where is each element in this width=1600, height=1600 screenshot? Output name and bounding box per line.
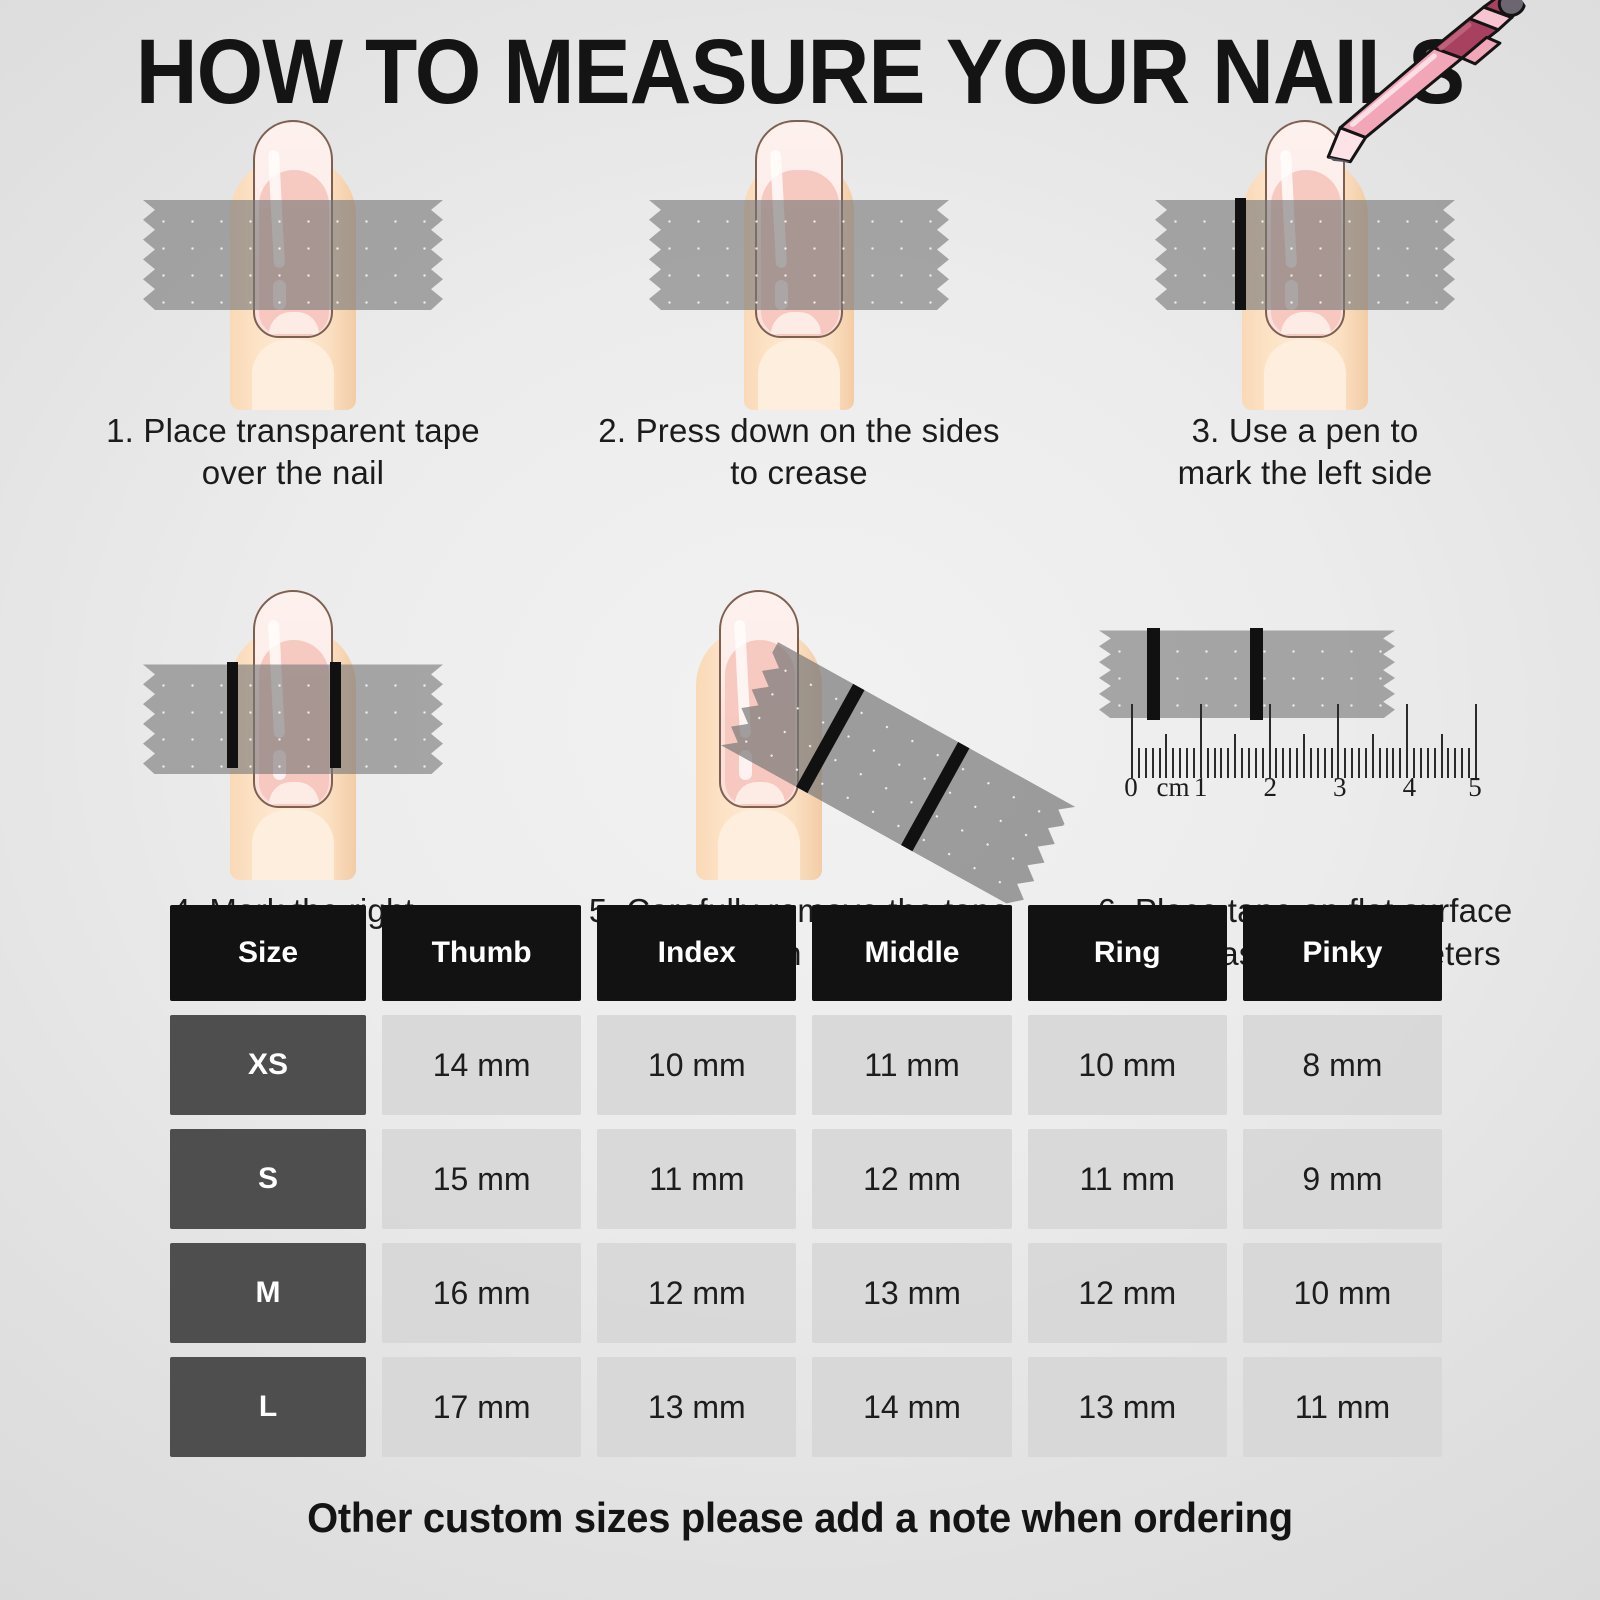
cell-l-thumb: 17 mm <box>382 1357 581 1457</box>
ruler-label-0: 0 <box>1124 772 1138 803</box>
table-header-index: Index <box>597 905 796 1001</box>
table-header-row: Size Thumb Index Middle Ring Pinky <box>170 905 1442 1001</box>
ruler-tick-mm <box>1289 748 1291 778</box>
steps-container: 1. Place transparent tape over the nail <box>40 120 1560 975</box>
ruler-tick-mm <box>1420 748 1422 778</box>
marked-tape <box>143 664 443 774</box>
ruler-tick-mm <box>1392 748 1394 778</box>
ruler-label-1: 1 <box>1194 772 1208 803</box>
ruler-label-2: 2 <box>1263 772 1277 803</box>
ruler-tick-cm <box>1337 704 1339 778</box>
step-1-illustration <box>40 120 546 410</box>
ruler-tick-mm <box>1152 748 1154 778</box>
ruler-tick-mm <box>1255 748 1257 778</box>
ruler-tick-mm <box>1234 734 1236 778</box>
table-header-ring: Ring <box>1028 905 1227 1001</box>
table-row: M 16 mm 12 mm 13 mm 12 mm 10 mm <box>170 1243 1442 1343</box>
cell-m-pinky: 10 mm <box>1243 1243 1442 1343</box>
cell-xs-pinky: 8 mm <box>1243 1015 1442 1115</box>
finger-knuckle <box>758 340 840 410</box>
size-label-s: S <box>170 1129 366 1229</box>
table-header-size: Size <box>170 905 366 1001</box>
infographic-page: HOW TO MEASURE YOUR NAILS <box>0 0 1600 1600</box>
steps-row-1: 1. Place transparent tape over the nail <box>40 120 1560 494</box>
cell-xs-ring: 10 mm <box>1028 1015 1227 1115</box>
cell-s-pinky: 9 mm <box>1243 1129 1442 1229</box>
cell-s-ring: 11 mm <box>1028 1129 1227 1229</box>
finger-knuckle <box>1264 340 1346 410</box>
step-1-caption-line1: 1. Place transparent tape <box>50 410 536 452</box>
footer-note: Other custom sizes please add a note whe… <box>40 1494 1560 1542</box>
finger-knuckle <box>252 340 334 410</box>
ruler-tick-mm <box>1386 748 1388 778</box>
cell-l-index: 13 mm <box>597 1357 796 1457</box>
ruler-tick-mm <box>1220 748 1222 778</box>
cell-m-middle: 13 mm <box>812 1243 1011 1343</box>
finger-knuckle <box>718 810 800 880</box>
step-1-caption: 1. Place transparent tape over the nail <box>40 410 546 494</box>
cell-s-index: 11 mm <box>597 1129 796 1229</box>
step-2-caption-line1: 2. Press down on the sides <box>556 410 1042 452</box>
step-2: 2. Press down on the sides to crease <box>546 120 1052 494</box>
transparent-tape <box>143 200 443 310</box>
ruler-tick-mm <box>1282 748 1284 778</box>
ruler-tick-mm <box>1317 748 1319 778</box>
ruler-tick-mm <box>1296 748 1298 778</box>
ruler-tick-mm <box>1358 748 1360 778</box>
cell-l-ring: 13 mm <box>1028 1357 1227 1457</box>
cell-m-ring: 12 mm <box>1028 1243 1227 1343</box>
ruler-tick-mm <box>1461 748 1463 778</box>
table-row: XS 14 mm 10 mm 11 mm 10 mm 8 mm <box>170 1015 1442 1115</box>
cell-m-thumb: 16 mm <box>382 1243 581 1343</box>
ruler-tick-mm <box>1379 748 1381 778</box>
size-label-l: L <box>170 1357 366 1457</box>
ruler-illustration: 0 cm 1 2 3 4 5 <box>1075 590 1535 890</box>
ruler-tick-mm <box>1138 748 1140 778</box>
ruler-tick-mm <box>1351 748 1353 778</box>
page-title: HOW TO MEASURE YOUR NAILS <box>56 26 1544 118</box>
cell-xs-index: 10 mm <box>597 1015 796 1115</box>
size-label-m: M <box>170 1243 366 1343</box>
ruler-tick-mm <box>1241 748 1243 778</box>
step-1: 1. Place transparent tape over the nail <box>40 120 546 494</box>
ruler-tick-cm <box>1131 704 1133 778</box>
table-row: S 15 mm 11 mm 12 mm 11 mm 9 mm <box>170 1129 1442 1229</box>
step-3-caption-line1: 3. Use a pen to <box>1062 410 1548 452</box>
tape-texture-dots <box>143 200 443 310</box>
ruler-tick-mm <box>1324 748 1326 778</box>
ruler-label-4: 4 <box>1403 772 1417 803</box>
ruler-ticks <box>1131 698 1475 778</box>
left-pen-mark <box>1235 198 1246 310</box>
table-row: L 17 mm 13 mm 14 mm 13 mm 11 mm <box>170 1357 1442 1457</box>
cell-l-pinky: 11 mm <box>1243 1357 1442 1457</box>
ruler-tick-cm <box>1406 704 1408 778</box>
ruler-tick-mm <box>1454 748 1456 778</box>
size-label-xs: XS <box>170 1015 366 1115</box>
table-header-pinky: Pinky <box>1243 905 1442 1001</box>
left-pen-mark <box>227 662 238 768</box>
step-2-illustration <box>546 120 1052 410</box>
right-pen-mark <box>330 662 341 768</box>
cell-xs-middle: 11 mm <box>812 1015 1011 1115</box>
ruler-tick-mm <box>1214 748 1216 778</box>
tape-texture-dots <box>649 200 949 310</box>
ruler-tick-mm <box>1365 748 1367 778</box>
ruler-tick-mm <box>1441 734 1443 778</box>
ruler-label-3: 3 <box>1333 772 1347 803</box>
cell-xs-thumb: 14 mm <box>382 1015 581 1115</box>
finger-knuckle <box>252 810 334 880</box>
step-2-caption: 2. Press down on the sides to crease <box>546 410 1052 494</box>
size-chart-table: Size Thumb Index Middle Ring Pinky XS 14… <box>170 905 1442 1471</box>
tape-texture-dots <box>1155 200 1455 310</box>
table-header-middle: Middle <box>812 905 1011 1001</box>
ruler-label-5: 5 <box>1468 772 1482 803</box>
step-5-illustration <box>546 590 1052 890</box>
cell-l-middle: 14 mm <box>812 1357 1011 1457</box>
step-3-illustration <box>1052 120 1558 410</box>
step-6-illustration: 0 cm 1 2 3 4 5 <box>1052 590 1558 890</box>
ruler-tick-mm <box>1447 748 1449 778</box>
tape-texture-dots <box>143 664 443 774</box>
cell-s-middle: 12 mm <box>812 1129 1011 1229</box>
creased-tape <box>649 200 949 310</box>
ruler-tick-mm <box>1372 734 1374 778</box>
ruler-tick-mm <box>1303 734 1305 778</box>
ruler-tick-mm <box>1145 748 1147 778</box>
cell-s-thumb: 15 mm <box>382 1129 581 1229</box>
ruler-tick-mm <box>1399 748 1401 778</box>
ruler-tick-mm <box>1227 748 1229 778</box>
transparent-tape <box>1155 200 1455 310</box>
ruler-unit-label: cm <box>1157 772 1190 803</box>
step-2-caption-line2: to crease <box>556 452 1042 494</box>
step-1-caption-line2: over the nail <box>50 452 536 494</box>
ruler-tick-cm <box>1475 704 1477 778</box>
ruler-tick-cm <box>1269 704 1271 778</box>
ruler-tick-mm <box>1248 748 1250 778</box>
ruler-tick-mm <box>1310 748 1312 778</box>
step-3-caption: 3. Use a pen to mark the left side <box>1052 410 1558 494</box>
ruler-tick-mm <box>1427 748 1429 778</box>
step-3-caption-line2: mark the left side <box>1062 452 1548 494</box>
ruler-tick-mm <box>1434 748 1436 778</box>
cell-m-index: 12 mm <box>597 1243 796 1343</box>
table-header-thumb: Thumb <box>382 905 581 1001</box>
step-3: 3. Use a pen to mark the left side <box>1052 120 1558 494</box>
step-4-illustration <box>40 590 546 890</box>
ruler-tick-cm <box>1200 704 1202 778</box>
